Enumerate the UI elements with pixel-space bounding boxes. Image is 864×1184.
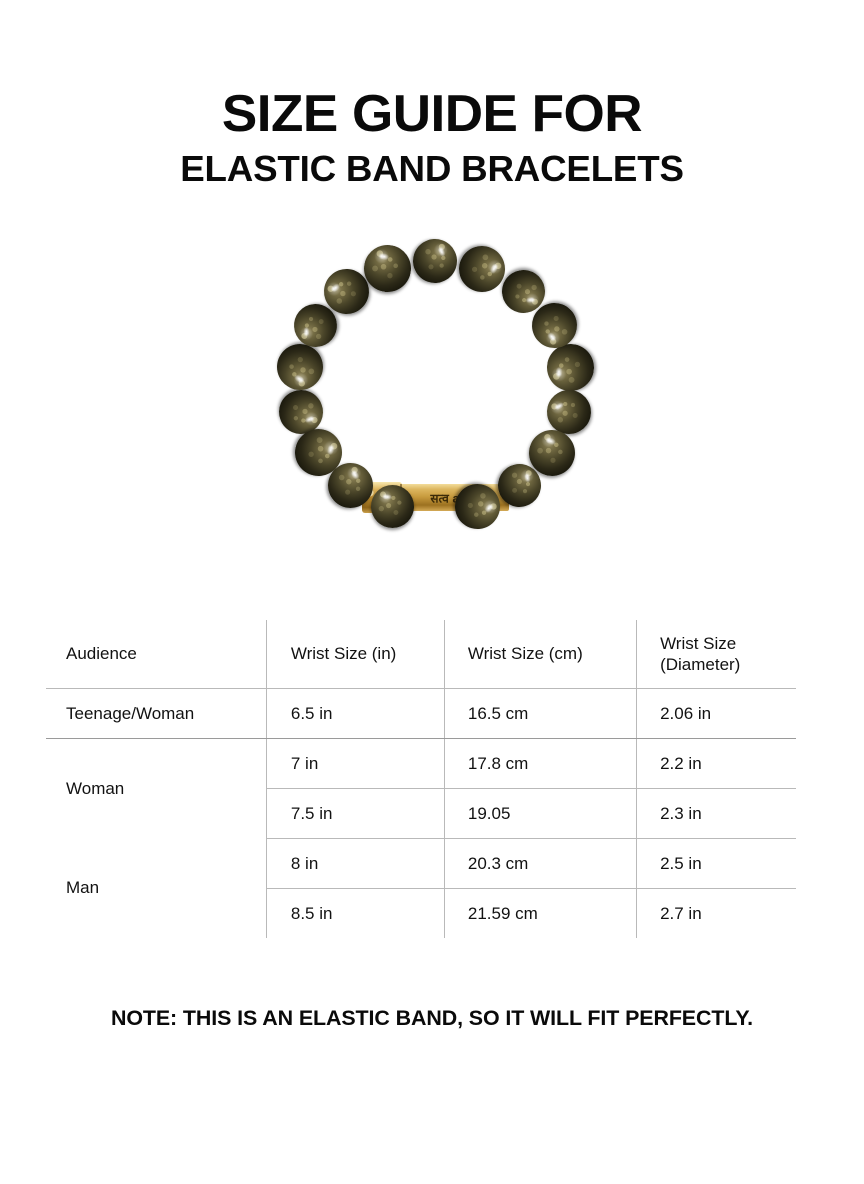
cell-wrist-diameter: 2.2 in — [637, 739, 796, 789]
cell-wrist-in: 8.5 in — [266, 889, 444, 939]
cell-audience-group-woman: Woman — [46, 739, 266, 839]
bead-highlight — [555, 366, 563, 377]
bead-highlight — [437, 246, 447, 258]
title-line-1: SIZE GUIDE FOR — [0, 88, 864, 140]
column-header-wrist-size-in: Wrist Size (in) — [266, 620, 444, 689]
table-row: Man 8 in 20.3 cm 2.5 in — [46, 839, 796, 889]
cell-audience: Teenage/Woman — [46, 689, 266, 739]
cell-wrist-in: 8 in — [266, 839, 444, 889]
bracelet-bead — [544, 341, 596, 393]
table-row: Woman 7 in 17.8 cm 2.2 in — [46, 739, 796, 789]
cell-wrist-cm: 20.3 cm — [444, 839, 636, 889]
bead-highlight — [303, 326, 310, 336]
bead-highlight — [546, 331, 558, 343]
bead-highlight — [489, 263, 500, 275]
cell-wrist-diameter: 2.7 in — [637, 889, 796, 939]
bead-highlight — [325, 444, 335, 456]
page-title: SIZE GUIDE FOR ELASTIC BAND BRACELETS — [0, 88, 864, 187]
bead-highlight — [303, 414, 314, 424]
bracelet-bead — [406, 232, 465, 291]
bracelet-bead-ring — [270, 255, 610, 565]
cell-wrist-cm: 17.8 cm — [444, 739, 636, 789]
bead-highlight — [483, 503, 494, 515]
column-header-wrist-size-diameter: Wrist Size (Diameter) — [637, 620, 796, 689]
cell-wrist-diameter: 2.5 in — [637, 839, 796, 889]
cell-wrist-in: 7.5 in — [266, 789, 444, 839]
diameter-header-line2: (Diameter) — [660, 655, 740, 674]
bead-highlight — [349, 470, 360, 482]
bead-highlight — [554, 400, 566, 411]
product-image-bracelet: सत्व aura — [270, 255, 610, 565]
table-row: Teenage/Woman 6.5 in 16.5 cm 2.06 in — [46, 689, 796, 739]
cell-wrist-cm: 21.59 cm — [444, 889, 636, 939]
cell-audience-group-man: Man — [46, 839, 266, 939]
column-header-audience: Audience — [46, 620, 266, 689]
title-line-2: ELASTIC BAND BRACELETS — [0, 151, 864, 187]
cell-wrist-cm: 16.5 cm — [444, 689, 636, 739]
bead-highlight — [329, 281, 341, 293]
cell-wrist-in: 6.5 in — [266, 689, 444, 739]
cell-wrist-diameter: 2.3 in — [637, 789, 796, 839]
bead-highlight — [526, 296, 536, 304]
cell-wrist-cm: 19.05 — [444, 789, 636, 839]
bead-highlight — [378, 253, 389, 262]
elastic-band-note: NOTE: THIS IS AN ELASTIC BAND, SO IT WIL… — [0, 1007, 864, 1031]
bead-highlight — [524, 473, 533, 484]
bead-highlight — [545, 436, 557, 446]
bracelet-bead — [371, 485, 414, 528]
column-header-wrist-size-cm: Wrist Size (cm) — [444, 620, 636, 689]
size-chart-table: Audience Wrist Size (in) Wrist Size (cm)… — [46, 620, 796, 938]
bead-highlight — [293, 373, 305, 384]
diameter-header-line1: Wrist Size — [660, 634, 736, 653]
cell-wrist-in: 7 in — [266, 739, 444, 789]
cell-wrist-diameter: 2.06 in — [637, 689, 796, 739]
table-header-row: Audience Wrist Size (in) Wrist Size (cm)… — [46, 620, 796, 689]
bead-highlight — [383, 494, 392, 500]
